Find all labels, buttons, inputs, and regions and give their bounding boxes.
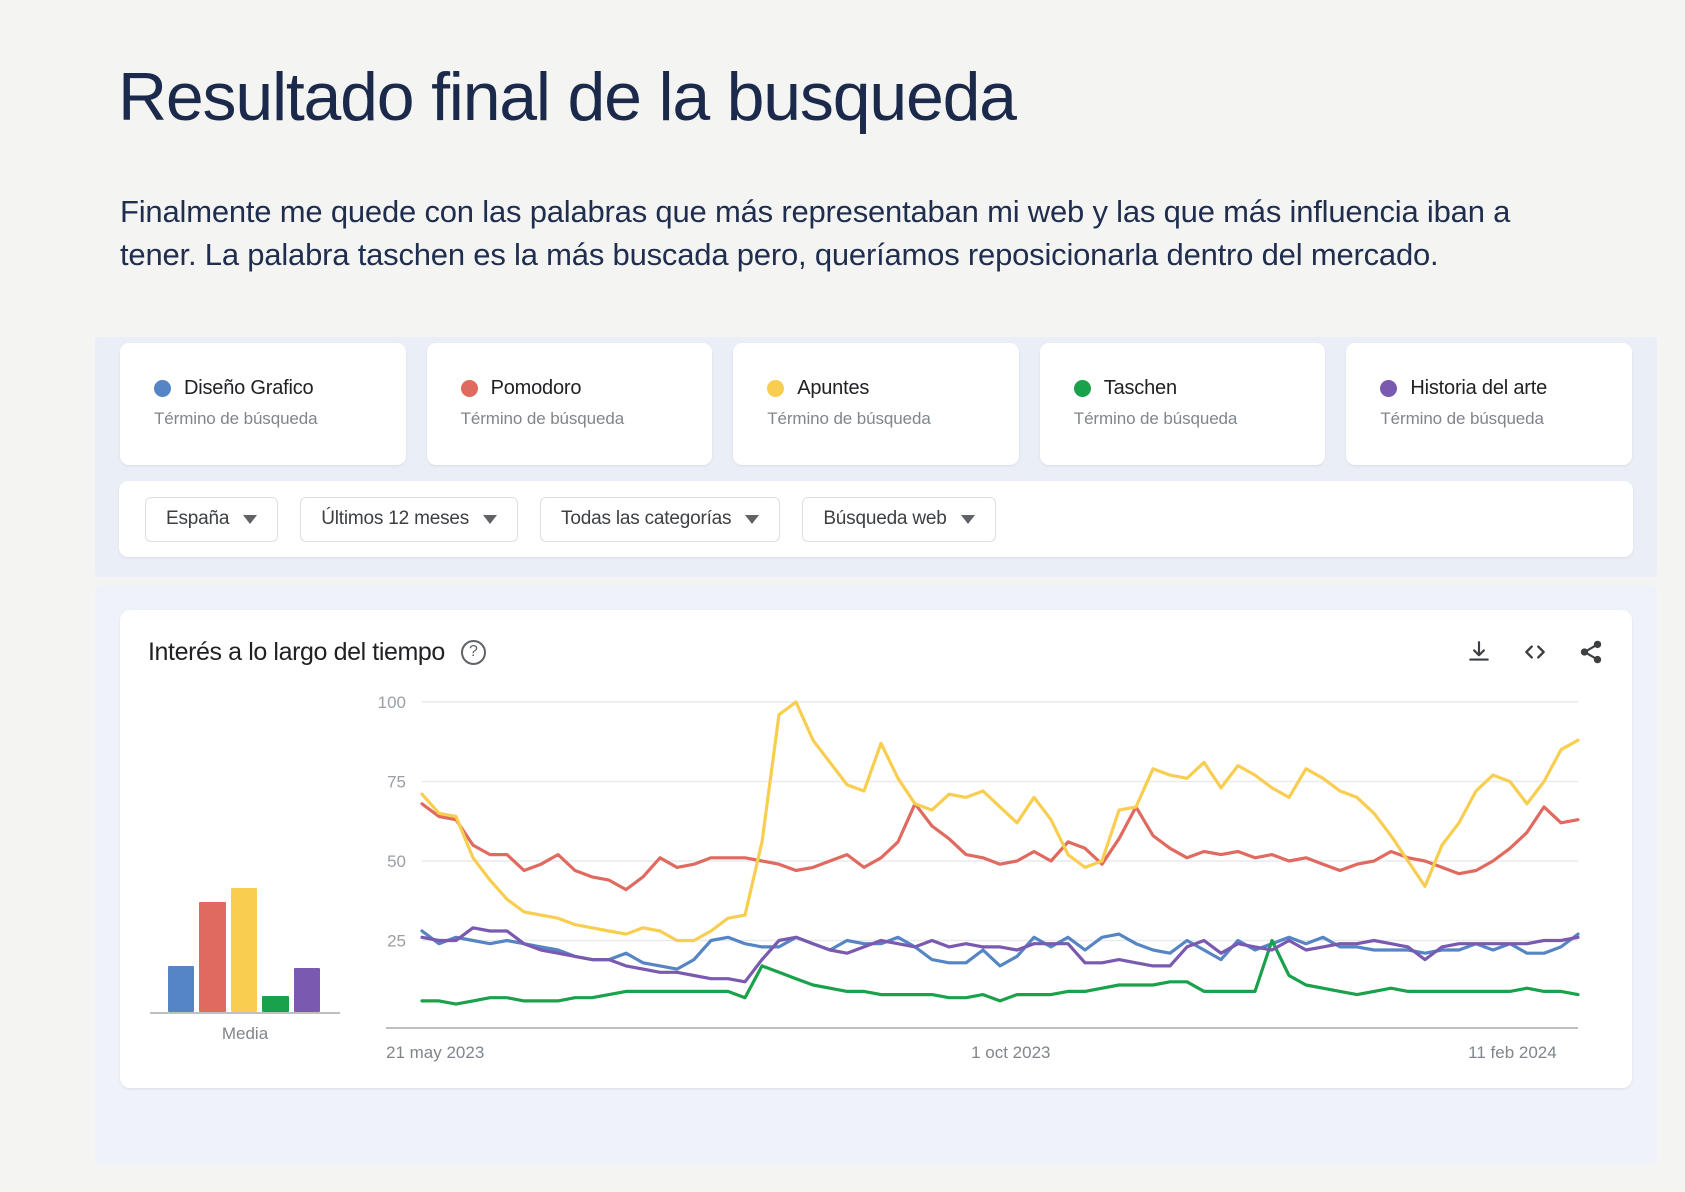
- series-line-historia-del-arte: [422, 928, 1578, 982]
- series-color-dot-icon: [767, 380, 784, 397]
- page-description: Finalmente me quede con las palabras que…: [120, 190, 1570, 277]
- x-axis-tick-label: 21 may 2023: [386, 1043, 484, 1062]
- average-bar-apuntes: [231, 888, 257, 1012]
- term-subtitle: Término de búsqueda: [154, 409, 406, 429]
- search-term-card-4[interactable]: Taschen Término de búsqueda: [1040, 343, 1326, 465]
- term-subtitle: Término de búsqueda: [461, 409, 713, 429]
- embed-code-icon[interactable]: [1522, 639, 1548, 665]
- chart-header: Interés a lo largo del tiempo ?: [148, 632, 1604, 672]
- trends-chart-panel: Interés a lo largo del tiempo ?: [95, 585, 1657, 1165]
- x-axis-tick-label: 11 feb 2024: [1468, 1043, 1557, 1062]
- filter-region-dropdown[interactable]: España: [145, 497, 278, 542]
- filter-category-label: Todas las categorías: [561, 508, 731, 530]
- average-bar-chart: Media: [150, 780, 340, 1050]
- page-title: Resultado final de la busqueda: [118, 62, 1016, 133]
- average-bar-historia-del-arte: [294, 968, 320, 1012]
- search-terms-row: Diseño Grafico Término de búsqueda Pomod…: [120, 343, 1632, 465]
- filter-searchtype-label: Búsqueda web: [823, 508, 946, 530]
- average-bars: [168, 812, 320, 1012]
- chart-plot-area: Media 10075502521 may 20231 oct 202311 f…: [120, 680, 1632, 1080]
- filter-searchtype-dropdown[interactable]: Búsqueda web: [802, 497, 995, 542]
- chevron-down-icon: [745, 515, 759, 524]
- y-axis-tick-label: 25: [387, 932, 406, 951]
- term-card-header: Taschen: [1074, 377, 1326, 400]
- average-bar-diseno-grafico: [168, 966, 194, 1012]
- page-root: Resultado final de la busqueda Finalment…: [0, 0, 1685, 1192]
- search-term-card-1[interactable]: Diseño Grafico Término de búsqueda: [120, 343, 406, 465]
- chevron-down-icon: [483, 515, 497, 524]
- chevron-down-icon: [243, 515, 257, 524]
- term-card-header: Apuntes: [767, 377, 1019, 400]
- term-subtitle: Término de búsqueda: [1380, 409, 1632, 429]
- term-title: Apuntes: [797, 377, 869, 400]
- term-subtitle: Término de búsqueda: [1074, 409, 1326, 429]
- average-axis-line: [150, 1012, 340, 1014]
- share-icon[interactable]: [1578, 639, 1604, 665]
- term-subtitle: Término de búsqueda: [767, 409, 1019, 429]
- term-card-header: Diseño Grafico: [154, 377, 406, 400]
- interest-over-time-card: Interés a lo largo del tiempo ?: [120, 610, 1632, 1088]
- average-bar-pomodoro: [199, 902, 225, 1012]
- term-card-header: Historia del arte: [1380, 377, 1632, 400]
- search-term-card-3[interactable]: Apuntes Término de búsqueda: [733, 343, 1019, 465]
- question-circle-icon[interactable]: ?: [461, 640, 486, 665]
- filter-region-label: España: [166, 508, 229, 530]
- y-axis-tick-label: 75: [387, 773, 406, 792]
- y-axis-tick-label: 50: [387, 852, 406, 871]
- average-bar-taschen: [262, 996, 288, 1012]
- average-axis-label: Media: [150, 1024, 340, 1044]
- series-line-dise-o-grafico: [422, 931, 1578, 969]
- chart-title: Interés a lo largo del tiempo: [148, 638, 445, 667]
- chart-actions: [1466, 639, 1604, 665]
- series-line-pomodoro: [422, 804, 1578, 890]
- download-icon[interactable]: [1466, 639, 1492, 665]
- term-title: Pomodoro: [491, 377, 582, 400]
- filters-bar: España Últimos 12 meses Todas las catego…: [119, 481, 1633, 557]
- series-color-dot-icon: [1380, 380, 1397, 397]
- time-series-area: 10075502521 may 20231 oct 202311 feb 202…: [350, 680, 1612, 1080]
- filter-category-dropdown[interactable]: Todas las categorías: [540, 497, 780, 542]
- time-series-svg: 10075502521 may 20231 oct 202311 feb 202…: [350, 680, 1612, 1080]
- term-title: Diseño Grafico: [184, 377, 313, 400]
- term-card-header: Pomodoro: [461, 377, 713, 400]
- y-axis-tick-label: 100: [378, 693, 406, 712]
- series-line-apuntes: [422, 702, 1578, 941]
- trends-search-panel: Diseño Grafico Término de búsqueda Pomod…: [95, 337, 1657, 577]
- series-color-dot-icon: [1074, 380, 1091, 397]
- search-term-card-2[interactable]: Pomodoro Término de búsqueda: [427, 343, 713, 465]
- series-color-dot-icon: [154, 380, 171, 397]
- series-color-dot-icon: [461, 380, 478, 397]
- term-title: Taschen: [1104, 377, 1177, 400]
- term-title: Historia del arte: [1410, 377, 1547, 400]
- filter-timerange-label: Últimos 12 meses: [321, 508, 469, 530]
- search-term-card-5[interactable]: Historia del arte Término de búsqueda: [1346, 343, 1632, 465]
- chevron-down-icon: [961, 515, 975, 524]
- filter-timerange-dropdown[interactable]: Últimos 12 meses: [300, 497, 518, 542]
- x-axis-tick-label: 1 oct 2023: [971, 1043, 1050, 1062]
